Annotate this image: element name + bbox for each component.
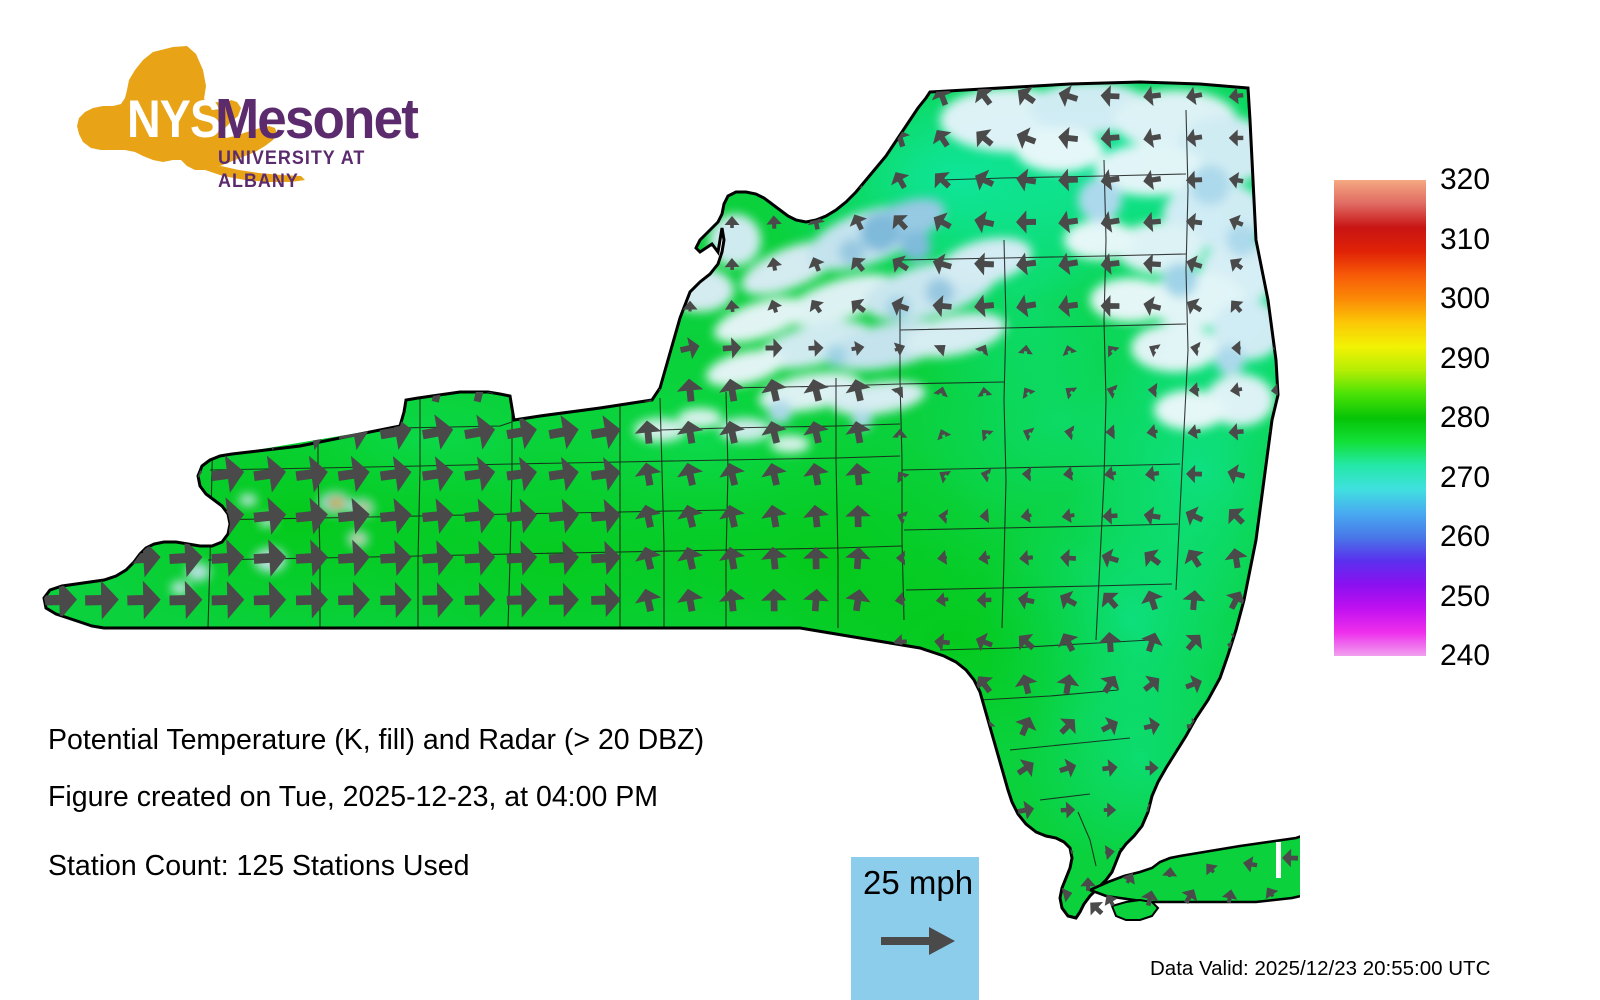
wind-arrow <box>1268 212 1288 232</box>
colorbar-tick-290: 290 <box>1440 342 1490 376</box>
wind-arrow <box>681 130 699 146</box>
wind-arrow <box>848 88 868 105</box>
wind-arrow <box>166 410 205 453</box>
wind-arrow <box>1265 546 1292 571</box>
wind-arrow <box>1264 586 1292 614</box>
wind-speed-legend: 25 mph <box>851 857 979 1000</box>
station-count-caption: Station Count: 125 Stations Used <box>48 850 469 883</box>
wind-arrow <box>1269 170 1287 189</box>
wind-arrow <box>1145 844 1159 861</box>
wind-arrow <box>1271 760 1284 777</box>
colorbar-tick-320: 320 <box>1440 163 1490 197</box>
figure-created-caption: Figure created on Tue, 2025-12-23, at 04… <box>48 781 658 814</box>
wind-arrow <box>929 670 955 697</box>
wind-arrow <box>549 376 580 404</box>
wind-arrow <box>1273 718 1284 733</box>
wind-arrow <box>807 172 825 188</box>
wind-arrow <box>890 673 911 696</box>
wind-arrow <box>41 495 79 538</box>
wind-arrow <box>640 301 655 311</box>
colorbar-gradient <box>1334 180 1426 656</box>
map-title-caption: Potential Temperature (K, fill) and Rada… <box>48 724 704 757</box>
wind-arrow <box>724 131 741 145</box>
wind-arrow <box>887 756 913 779</box>
wind-arrow <box>1268 297 1287 315</box>
wind-arrow <box>978 886 991 901</box>
wind-arrow <box>640 215 657 228</box>
wind-arrow <box>1270 129 1286 147</box>
wind-arrow <box>928 713 957 740</box>
colorbar-tick-240: 240 <box>1440 639 1490 673</box>
wind-arrow <box>1020 886 1032 902</box>
wind-arrow <box>1264 460 1292 489</box>
colorbar-tick-300: 300 <box>1440 282 1490 316</box>
colorbar-tick-250: 250 <box>1440 580 1490 614</box>
wind-arrow <box>682 216 698 228</box>
colorbar-tick-260: 260 <box>1440 520 1490 554</box>
wind-arrow <box>43 374 78 405</box>
wind-arrow <box>848 129 869 148</box>
wind-arrow <box>807 88 824 103</box>
wind-arrow <box>1268 254 1288 273</box>
wind-arrow <box>639 87 656 105</box>
wind-arrow <box>167 453 205 495</box>
wind-arrow <box>766 89 783 104</box>
wind-arrow <box>83 452 122 495</box>
wind-arrow <box>1019 844 1033 860</box>
wind-arrow <box>639 172 657 188</box>
wind-arrow <box>969 753 999 782</box>
wind-arrow <box>84 374 119 406</box>
wind-arrow <box>927 795 956 824</box>
wind-arrow <box>169 374 203 405</box>
data-valid-timestamp: Data Valid: 2025/12/23 20:55:00 UTC <box>1150 957 1490 981</box>
wind-arrow <box>212 375 245 404</box>
wind-arrow-icon <box>881 923 957 959</box>
colorbar-tick-310: 310 <box>1440 223 1490 257</box>
wind-arrow <box>640 258 656 270</box>
wind-arrow <box>886 712 914 740</box>
wind-arrow <box>1269 802 1286 819</box>
wind-arrow <box>209 411 248 454</box>
wind-arrow <box>1268 631 1288 653</box>
wind-arrow <box>338 376 369 404</box>
wind-arrow <box>1230 718 1242 733</box>
wind-arrow <box>634 333 662 363</box>
wind-arrow <box>1188 760 1200 775</box>
wind-arrow <box>972 797 997 823</box>
wind-arrow <box>766 173 782 186</box>
wind-arrow <box>591 377 620 403</box>
wind-arrow <box>40 410 80 455</box>
wind-arrow <box>40 452 79 496</box>
wind-arrow <box>681 87 700 104</box>
wind-arrow <box>639 129 657 146</box>
wind-arrow <box>928 755 955 780</box>
wind-arrow <box>766 131 782 145</box>
wind-arrow <box>168 495 205 536</box>
colorbar-tick-280: 280 <box>1440 401 1490 435</box>
wind-arrow <box>1271 676 1285 692</box>
wind-arrow <box>1227 674 1245 694</box>
wind-arrow <box>1263 502 1292 529</box>
wind-arrow <box>1271 88 1285 104</box>
wind-arrow <box>297 377 326 402</box>
wind-arrow <box>255 377 286 404</box>
wind-arrow <box>1230 760 1241 776</box>
wind-arrow <box>1228 802 1243 819</box>
wind-arrow <box>82 410 122 454</box>
wind-arrow <box>807 130 824 145</box>
wind-arrow <box>125 453 163 496</box>
wind-arrow <box>682 173 699 187</box>
wind-arrow <box>84 537 120 578</box>
wind-arrow <box>42 537 78 578</box>
wind-arrow <box>888 86 911 107</box>
wind-arrow <box>682 259 697 270</box>
wind-arrow <box>83 495 120 537</box>
wind-arrow <box>124 410 163 454</box>
temperature-colorbar <box>1334 180 1426 656</box>
wind-arrow <box>724 174 739 187</box>
wind-arrow <box>1188 802 1200 819</box>
wind-legend-label: 25 mph <box>863 864 973 902</box>
wind-arrow <box>885 796 915 824</box>
wind-arrow <box>126 495 163 537</box>
wind-arrow <box>127 374 162 406</box>
wind-arrow <box>723 88 741 104</box>
colorbar-tick-270: 270 <box>1440 461 1490 495</box>
